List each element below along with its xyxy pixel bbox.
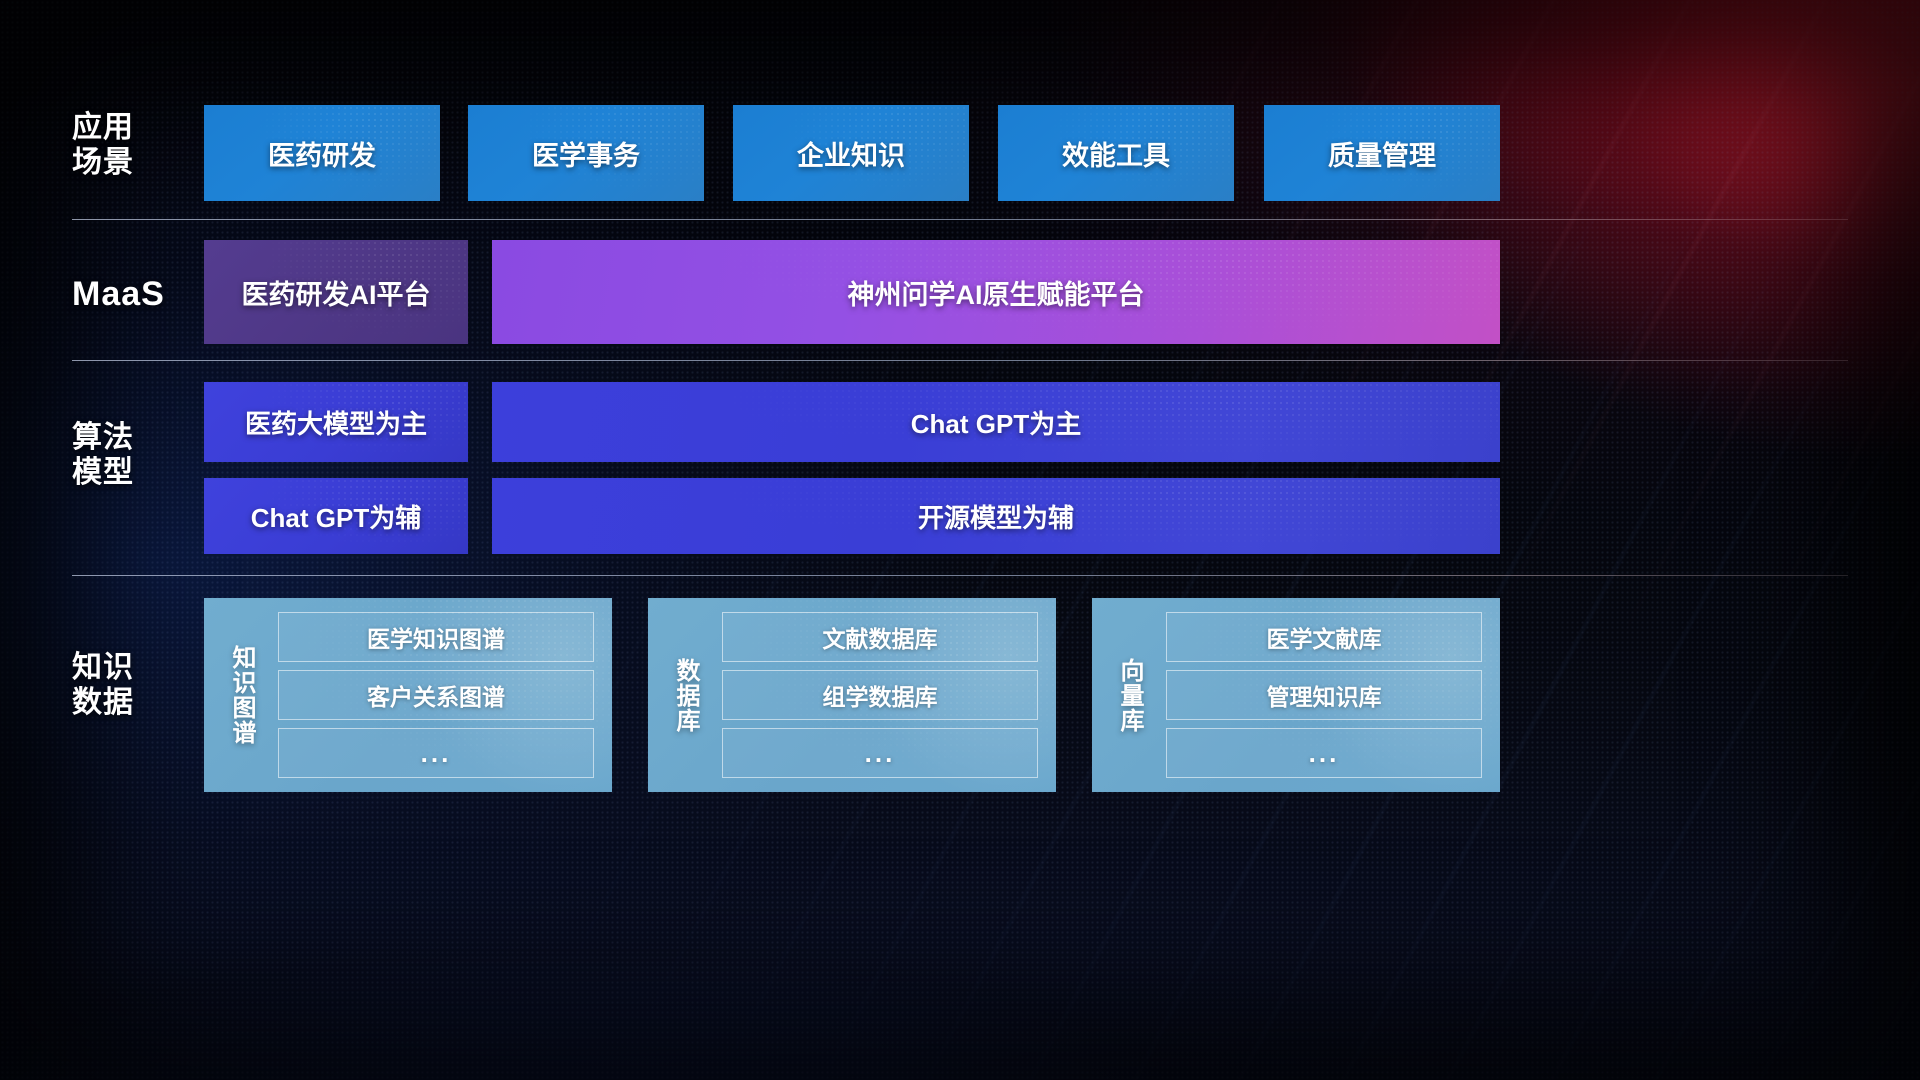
algo-box-opensource-secondary[interactable]: 开源模型为辅: [492, 478, 1500, 554]
knowledge-item[interactable]: 客户关系图谱: [278, 670, 594, 720]
algo-box-chatgpt-secondary[interactable]: Chat GPT为辅: [204, 478, 468, 554]
tier-label-line: 数据: [72, 685, 202, 720]
tier-label-algorithm-models: 算法 模型: [72, 420, 202, 491]
knowledge-item[interactable]: 管理知识库: [1166, 670, 1482, 720]
algo-box-label: 开源模型为辅: [918, 498, 1074, 535]
tier-label-maas: MaaS: [72, 274, 202, 314]
app-box-label: 医学事务: [532, 134, 640, 173]
tier-label-line: 应用: [72, 110, 202, 145]
app-box-label: 效能工具: [1062, 134, 1170, 173]
tier-label-application-scenarios: 应用 场景: [72, 110, 202, 181]
app-box-label: 医药研发: [268, 134, 376, 173]
knowledge-panel-items: 医学知识图谱 客户关系图谱 ...: [268, 608, 600, 782]
knowledge-item[interactable]: 医学文献库: [1166, 612, 1482, 662]
maas-box-medicine-ai-platform[interactable]: 医药研发AI平台: [204, 240, 468, 344]
knowledge-panel-vertical-label: 数据库: [658, 608, 712, 782]
algo-box-chatgpt-primary[interactable]: Chat GPT为主: [492, 382, 1500, 462]
knowledge-item[interactable]: 组学数据库: [722, 670, 1038, 720]
tier-label-line: 模型: [72, 455, 202, 490]
knowledge-panel-vector-store[interactable]: 向量库 医学文献库 管理知识库 ...: [1092, 598, 1500, 792]
app-box-label: 质量管理: [1328, 134, 1436, 173]
tier-label-line: 算法: [72, 420, 202, 455]
app-box-label: 企业知识: [797, 134, 905, 173]
app-box-enterprise-knowledge[interactable]: 企业知识: [733, 105, 969, 201]
tier-label-line: MaaS: [72, 274, 202, 314]
app-box-medical-affairs[interactable]: 医学事务: [468, 105, 704, 201]
architecture-diagram: 应用 场景 医药研发 医学事务 企业知识 效能工具 质量管理 MaaS 医药研发…: [0, 0, 1920, 1080]
algo-box-label: Chat GPT为辅: [251, 498, 421, 535]
divider-tier3-tier4: [72, 575, 1848, 576]
knowledge-item-more[interactable]: ...: [1166, 728, 1482, 778]
algo-box-label: Chat GPT为主: [911, 404, 1081, 441]
app-box-medicine-rd[interactable]: 医药研发: [204, 105, 440, 201]
tier-label-line: 知识: [72, 650, 202, 685]
app-box-quality-management[interactable]: 质量管理: [1264, 105, 1500, 201]
knowledge-panel-vertical-label: 知识图谱: [214, 608, 268, 782]
knowledge-panel-items: 医学文献库 管理知识库 ...: [1156, 608, 1488, 782]
maas-box-label: 神州问学AI原生赋能平台: [848, 273, 1145, 312]
knowledge-panel-database[interactable]: 数据库 文献数据库 组学数据库 ...: [648, 598, 1056, 792]
knowledge-item[interactable]: 医学知识图谱: [278, 612, 594, 662]
app-box-efficiency-tools[interactable]: 效能工具: [998, 105, 1234, 201]
knowledge-panel-knowledge-graph[interactable]: 知识图谱 医学知识图谱 客户关系图谱 ...: [204, 598, 612, 792]
knowledge-panel-items: 文献数据库 组学数据库 ...: [712, 608, 1044, 782]
divider-tier1-tier2: [72, 219, 1848, 220]
divider-tier2-tier3: [72, 360, 1848, 361]
maas-box-label: 医药研发AI平台: [242, 273, 431, 312]
maas-box-shenzhou-wenxue-platform[interactable]: 神州问学AI原生赋能平台: [492, 240, 1500, 344]
algo-box-medicine-llm-primary[interactable]: 医药大模型为主: [204, 382, 468, 462]
knowledge-item[interactable]: 文献数据库: [722, 612, 1038, 662]
tier-label-knowledge-data: 知识 数据: [72, 650, 202, 721]
algo-box-label: 医药大模型为主: [245, 404, 427, 441]
knowledge-panel-vertical-label: 向量库: [1102, 608, 1156, 782]
knowledge-item-more[interactable]: ...: [278, 728, 594, 778]
knowledge-item-more[interactable]: ...: [722, 728, 1038, 778]
tier-label-line: 场景: [72, 145, 202, 180]
